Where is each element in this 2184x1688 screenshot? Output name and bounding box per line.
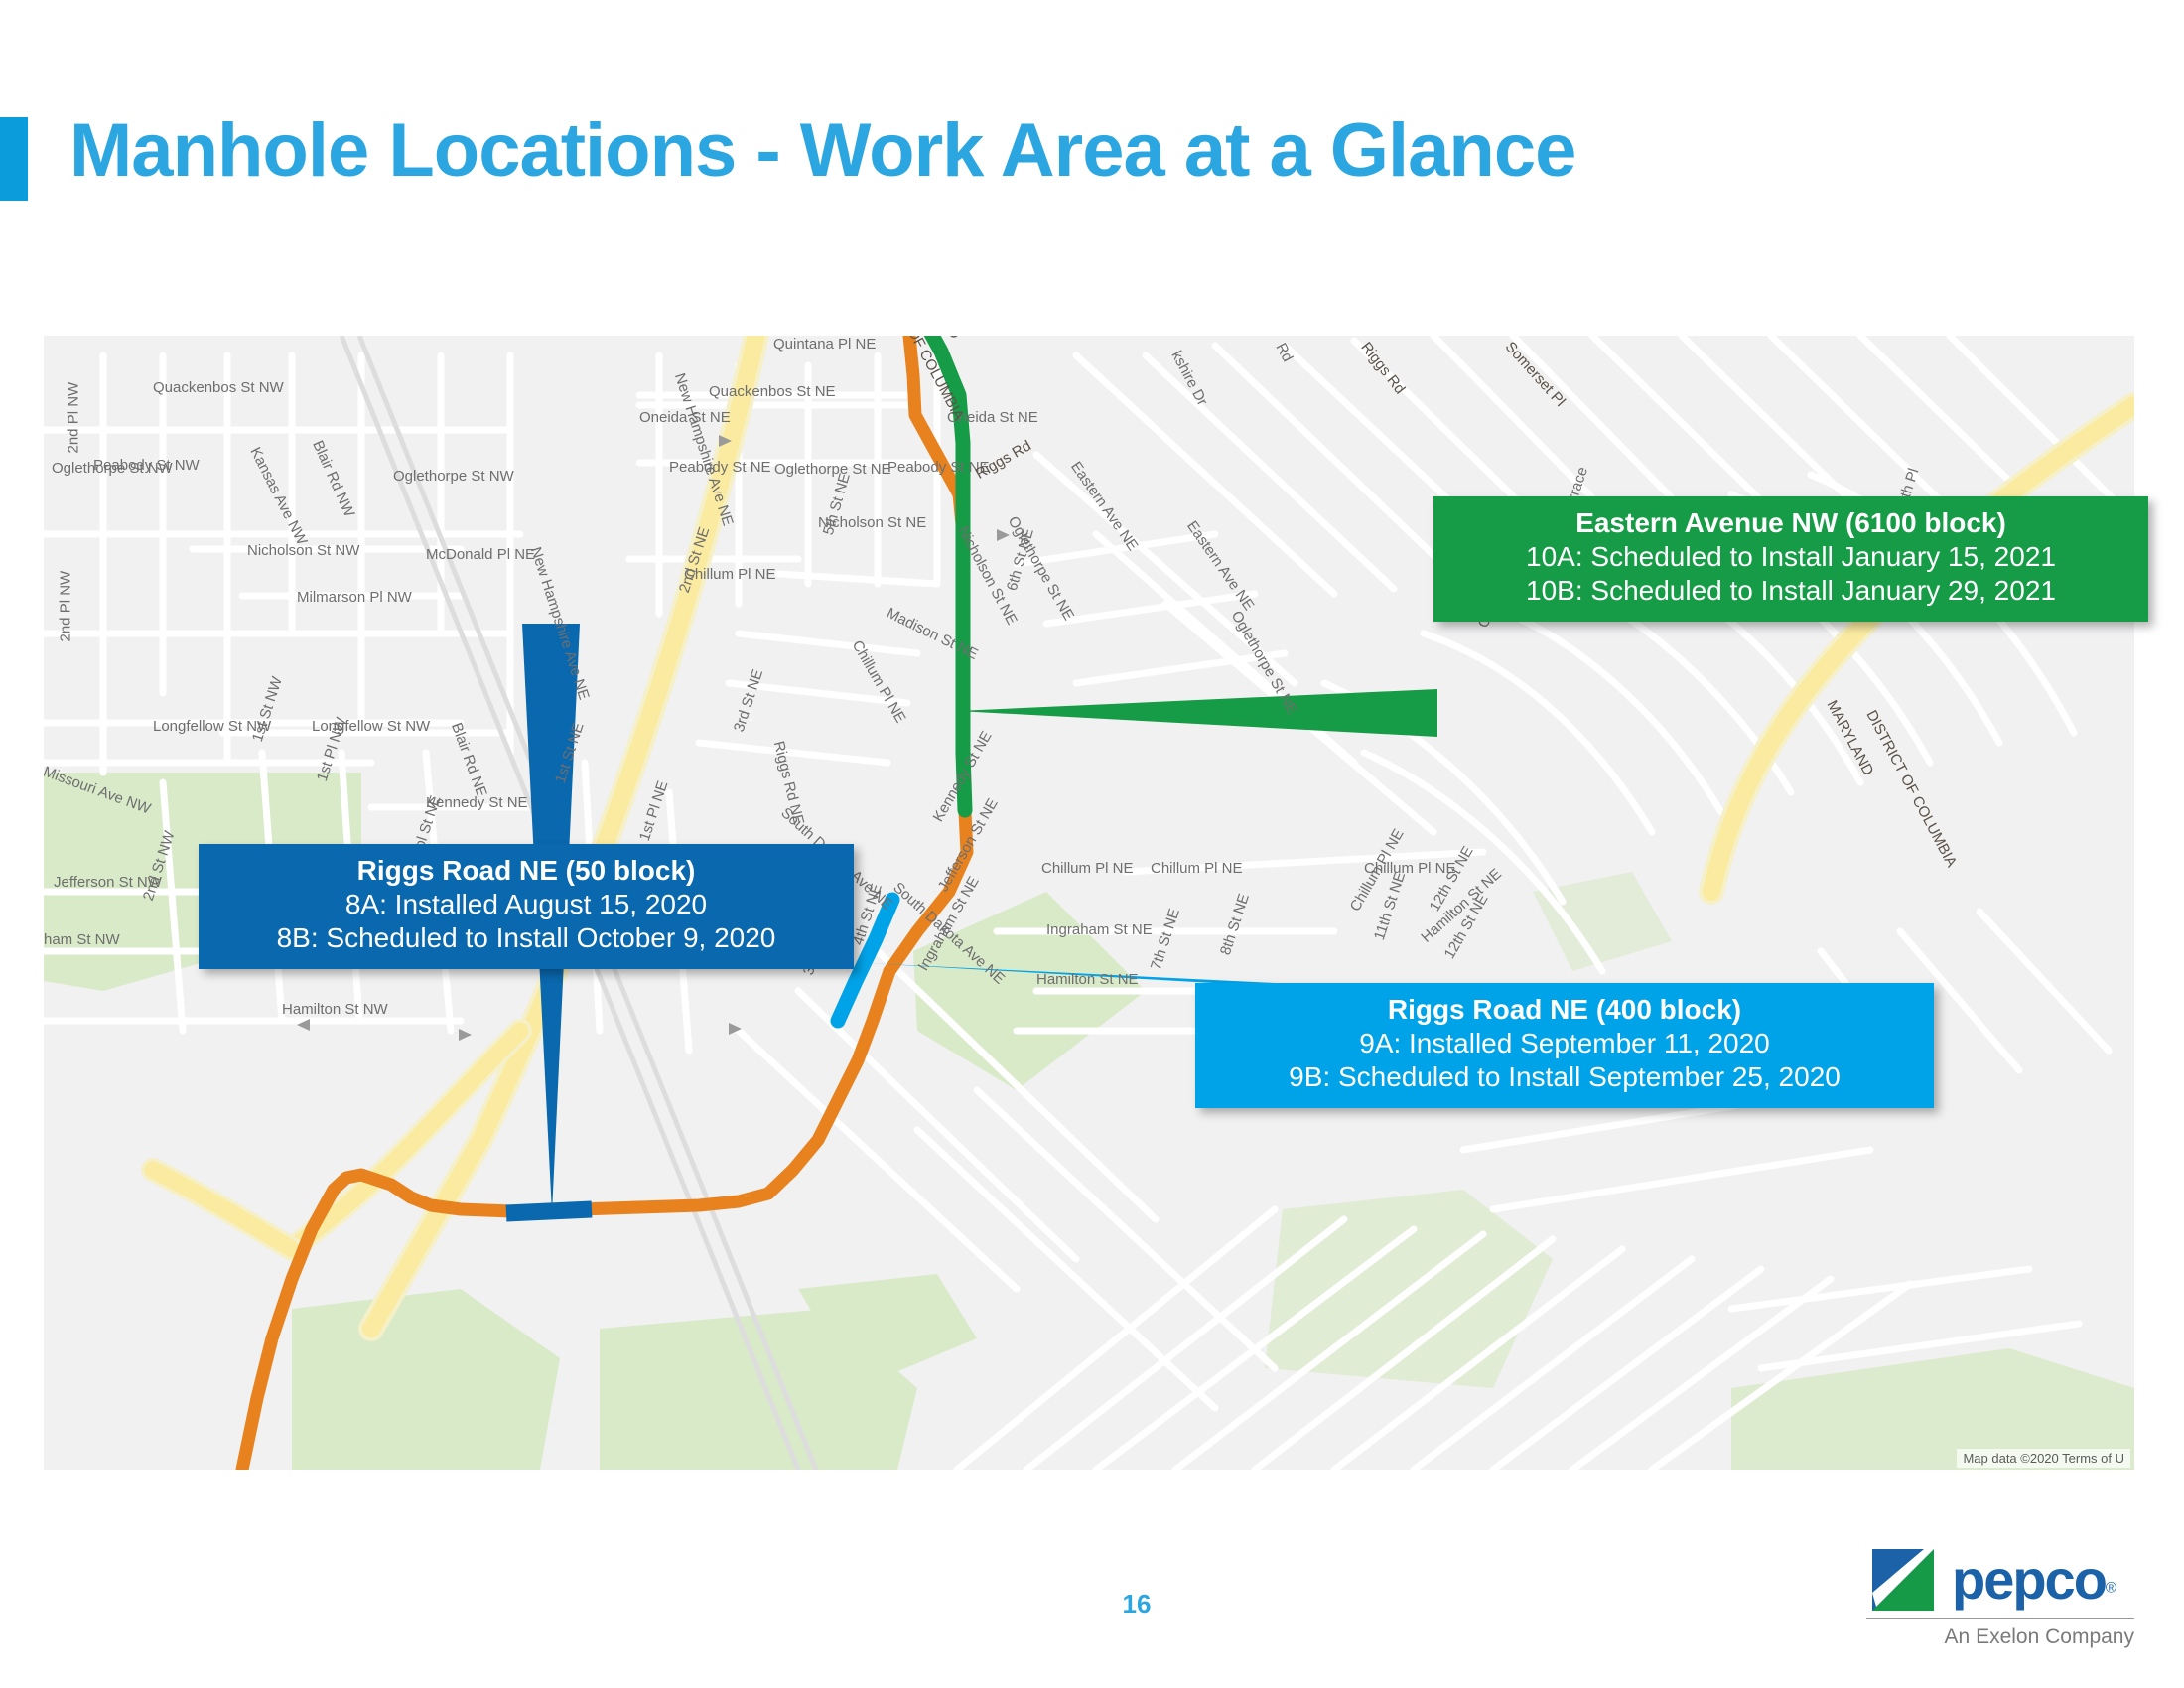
logo-divider — [1866, 1618, 2134, 1619]
map-label: Oglethorpe St NW — [393, 468, 514, 485]
title-accent-bar — [0, 117, 28, 201]
map-label: 2nd Pl NW — [58, 571, 74, 642]
callout-riggs-road-400[interactable]: Riggs Road NE (400 block) 9A: Installed … — [1195, 983, 1934, 1108]
map-label: Hamilton St NW — [282, 1001, 388, 1018]
callout-eastern-avenue[interactable]: Eastern Avenue NW (6100 block) 10A: Sche… — [1433, 496, 2148, 622]
callout-title: Riggs Road NE (400 block) — [1213, 993, 1916, 1027]
map-label: Quackenbos St NE — [709, 383, 836, 400]
callout-line-b: 10B: Scheduled to Install January 29, 20… — [1451, 574, 2130, 608]
callout-line-b: 8B: Scheduled to Install October 9, 2020 — [216, 921, 836, 955]
map-label: Chillum Pl NE — [1151, 860, 1243, 877]
map-label: 2nd Pl NW — [66, 382, 82, 454]
callout-title: Riggs Road NE (50 block) — [216, 854, 836, 888]
pepco-logo-mark — [1866, 1545, 1940, 1615]
pepco-wordmark: pepco — [1952, 1548, 2106, 1611]
map-label: ham St NW — [44, 931, 120, 948]
page-number: 16 — [1087, 1589, 1186, 1619]
logo-tagline: An Exelon Company — [1866, 1625, 2134, 1649]
callout-line-a: 8A: Installed August 15, 2020 — [216, 888, 836, 921]
map-label: Oglethorpe St NW — [52, 460, 173, 477]
map-label: Milmarson Pl NW — [297, 589, 412, 606]
map-attribution: Map data ©2020 Terms of U — [1957, 1449, 2130, 1468]
callout-riggs-road-50[interactable]: Riggs Road NE (50 block) 8A: Installed A… — [199, 844, 854, 969]
map-label: Quintana Pl NE — [773, 336, 876, 352]
registered-mark: ® — [2106, 1580, 2116, 1597]
pepco-logo: pepco® An Exelon Company — [1866, 1545, 2134, 1649]
map-label: Ingraham St NE — [1046, 921, 1153, 938]
map-label: Chillum Pl NE — [1041, 860, 1134, 877]
callout-title: Eastern Avenue NW (6100 block) — [1451, 506, 2130, 540]
map-label: Oglethorpe St NE — [774, 461, 891, 478]
dark-blue-work-segment — [506, 1209, 592, 1213]
callout-line-b: 9B: Scheduled to Install September 25, 2… — [1213, 1060, 1916, 1094]
map-label: McDonald Pl NE — [426, 546, 535, 563]
page-title: Manhole Locations - Work Area at a Glanc… — [69, 107, 1575, 194]
callout-line-a: 9A: Installed September 11, 2020 — [1213, 1027, 1916, 1060]
callout-line-a: 10A: Scheduled to Install January 15, 20… — [1451, 540, 2130, 574]
map-label: Quackenbos St NW — [153, 379, 284, 396]
map-label: Oneida St NE — [639, 409, 731, 426]
map-label: Hamilton St NE — [1036, 971, 1139, 988]
map-label: Nicholson St NW — [247, 542, 359, 559]
